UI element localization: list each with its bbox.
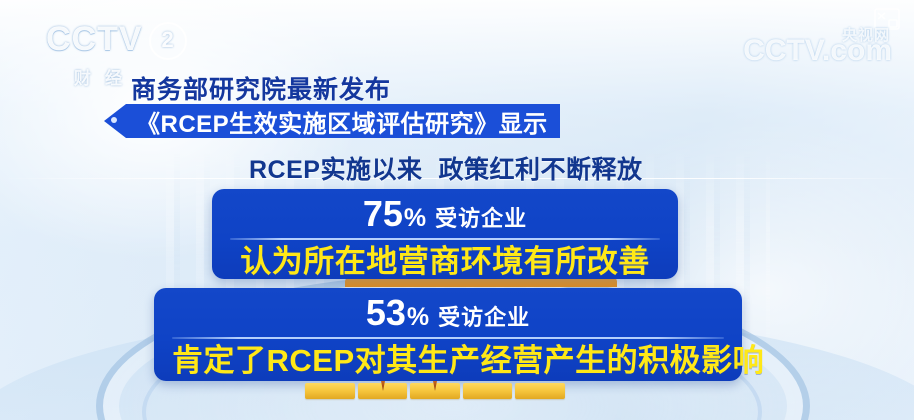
stat-card-1-header: 75%受访企业: [230, 195, 660, 233]
stat-card-1-divider: [230, 238, 660, 240]
sub-headline: RCEP实施以来政策红利不断释放: [249, 150, 642, 186]
watermark-chinese-label: 央视网: [842, 24, 890, 45]
stat-card-2-divider: [172, 337, 724, 339]
headline-kicker: 商务部研究院最新发布: [131, 70, 391, 106]
gold-base-segment: [463, 383, 513, 399]
stat-card-2-statement: 肯定了RCEP对其生产经营产生的积极影响: [172, 343, 724, 380]
stat-card-1-percent: 75: [363, 193, 403, 234]
stat-card-2-percent-sign: %: [407, 303, 429, 331]
stat-card-2-header: 53%受访企业: [172, 294, 724, 332]
stat-card-2-percent: 53: [366, 292, 406, 333]
sub-headline-left: RCEP实施以来: [249, 156, 422, 184]
gold-base-segment: [305, 383, 355, 399]
stat-card-1-statement: 认为所在地营商环境有所改善: [230, 244, 660, 281]
stat-card-1: 75%受访企业 认为所在地营商环境有所改善: [212, 189, 678, 279]
channel-number-badge: 2: [149, 22, 187, 60]
headline-banner-text: 《RCEP生效实施区域评估研究》显示: [126, 104, 560, 138]
gold-base-bar: [305, 383, 565, 399]
stat-card-2-label: 受访企业: [438, 305, 530, 330]
stat-card-2: 53%受访企业 肯定了RCEP对其生产经营产生的积极影响: [154, 288, 742, 381]
cctv-dot-com-watermark: 央视网 CCTV.com: [743, 36, 892, 66]
gold-base-segment: [515, 383, 565, 399]
cctv-wordmark: CCTV: [46, 22, 143, 56]
broadcast-graphic-stage: CCTV2 财经 央视网 CCTV.com 商务部研究院最新发布 《RCEP生效…: [0, 0, 914, 420]
stat-card-1-percent-sign: %: [404, 204, 426, 232]
stat-card-1-label: 受访企业: [435, 206, 527, 231]
sub-headline-right: 政策红利不断释放: [438, 156, 642, 184]
left-arrow-marker-icon: [104, 104, 126, 138]
headline-banner: 《RCEP生效实施区域评估研究》显示: [104, 104, 560, 138]
